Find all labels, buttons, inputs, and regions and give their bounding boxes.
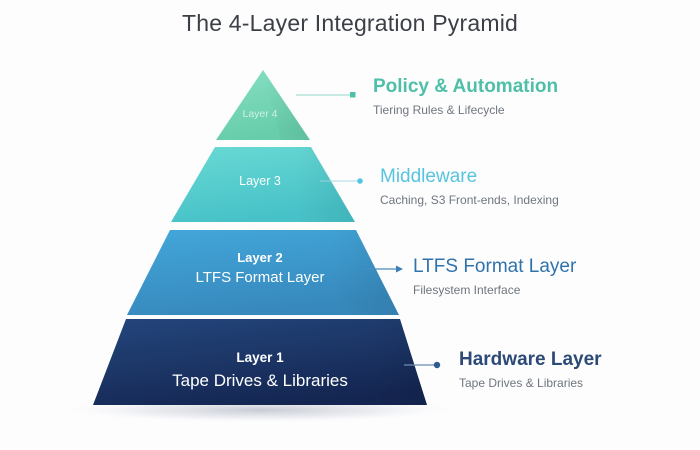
- callout-layer-4-title: Policy & Automation: [373, 76, 558, 99]
- diagram-canvas: The 4-Layer Integration Pyramid: [0, 0, 700, 450]
- callout-layer-3-title: Middleware: [380, 166, 559, 189]
- callout-layer-2[interactable]: LTFS Format Layer Filesystem Interface: [413, 256, 576, 298]
- pyramid-layer-4[interactable]: [216, 70, 310, 140]
- callout-layer-1-subtitle: Tape Drives & Libraries: [459, 375, 602, 391]
- callout-layer-2-title: LTFS Format Layer: [413, 256, 576, 279]
- connector-layer-4: [296, 92, 356, 98]
- pyramid-layer-2[interactable]: [127, 230, 399, 315]
- callout-layer-4-subtitle: Tiering Rules & Lifecycle: [373, 102, 558, 118]
- pyramid-layer-3[interactable]: [171, 147, 355, 222]
- callout-layer-3[interactable]: Middleware Caching, S3 Front-ends, Index…: [380, 166, 559, 208]
- pyramid-layer-1[interactable]: [93, 319, 427, 405]
- callout-layer-2-subtitle: Filesystem Interface: [413, 282, 576, 298]
- callout-layer-3-subtitle: Caching, S3 Front-ends, Indexing: [380, 192, 559, 208]
- callout-layer-1[interactable]: Hardware Layer Tape Drives & Libraries: [459, 349, 602, 391]
- callout-layer-4[interactable]: Policy & Automation Tiering Rules & Life…: [373, 76, 558, 118]
- callout-layer-1-title: Hardware Layer: [459, 349, 602, 372]
